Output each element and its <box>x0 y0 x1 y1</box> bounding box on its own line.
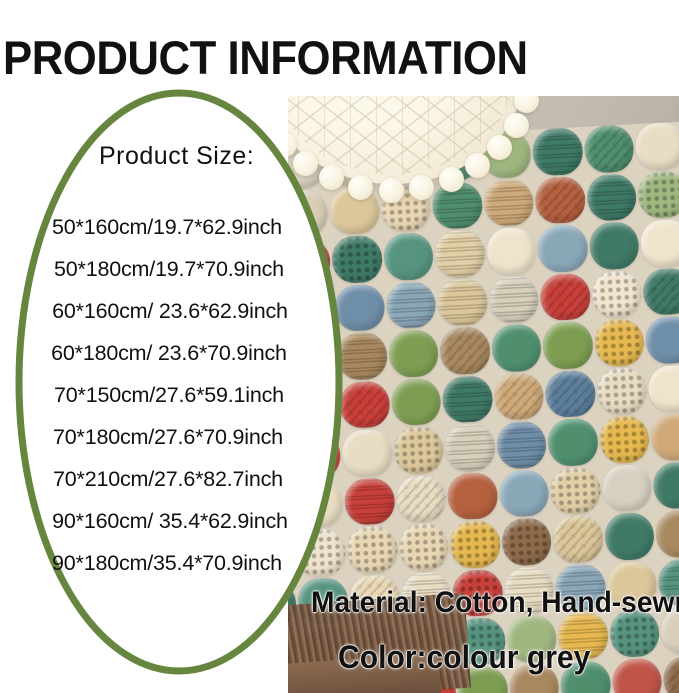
size-option: 60*160cm/ 23.6*62.9inch <box>0 290 340 332</box>
quilt-puff <box>485 227 537 276</box>
quilt-puff <box>663 654 679 693</box>
quilt-puff <box>339 380 391 429</box>
quilt-puff <box>591 270 643 319</box>
page-title: PRODUCT INFORMATION <box>3 30 528 85</box>
quilt-puff <box>542 321 594 370</box>
pompom <box>439 167 464 192</box>
quilt-puff <box>42 638 94 687</box>
quilt-puff <box>0 689 45 693</box>
quilt-puff <box>611 657 663 693</box>
quilt-puff <box>385 280 437 329</box>
quilt-puff <box>583 124 635 173</box>
quilt-puff <box>490 323 542 372</box>
pompom <box>278 0 303 11</box>
quilt-puff <box>96 684 148 693</box>
quilt-puff <box>382 232 434 281</box>
pompom <box>493 0 518 20</box>
quilt-puff <box>498 469 550 518</box>
quilt-puff <box>341 428 393 477</box>
quilt-puff <box>496 420 548 469</box>
quilt-puff <box>532 127 584 176</box>
quilt-puff <box>439 326 491 375</box>
quilt-puff <box>635 122 679 171</box>
quilt-puff <box>593 318 645 367</box>
pompom <box>293 151 318 176</box>
quilt-puff <box>387 329 439 378</box>
quilt-puff <box>642 267 679 316</box>
quilt-puff <box>393 426 445 475</box>
quilt-puff <box>442 375 494 424</box>
quilt-puff <box>586 173 638 222</box>
quilt-puff <box>449 520 501 569</box>
quilt-puff <box>40 590 92 639</box>
quilt-puff <box>493 372 545 421</box>
quilt-puff <box>545 369 597 418</box>
material-text: Material: Cotton, Hand-sewn <box>311 586 679 620</box>
quilt-puff <box>194 582 246 631</box>
quilt-puff <box>346 525 398 574</box>
quilt-puff <box>650 412 679 461</box>
size-option: 90*160cm/ 35.4*62.9inch <box>0 500 340 542</box>
quilt-puff <box>547 418 599 467</box>
quilt-puff <box>552 514 604 563</box>
pompom <box>487 135 512 160</box>
size-option: 50*180cm/19.7*70.9inch <box>0 248 340 290</box>
size-option: 50*160cm/19.7*62.9inch <box>0 206 340 248</box>
quilt-puff <box>333 283 385 332</box>
size-option: 60*180cm/ 23.6*70.9inch <box>0 332 340 374</box>
pompom <box>504 113 529 138</box>
quilt-puff <box>604 512 656 561</box>
quilt-puff <box>648 364 679 413</box>
quilt-puff <box>599 415 651 464</box>
quilt-puff <box>148 681 200 693</box>
quilt-puff <box>488 275 540 324</box>
quilt-puff <box>588 221 640 270</box>
quilt-puff <box>17 154 69 203</box>
quilt-puff <box>653 461 679 510</box>
quilt-puff <box>395 474 447 523</box>
quilt-puff <box>336 331 388 380</box>
quilt-puff <box>447 471 499 520</box>
quilt-puff <box>0 641 43 690</box>
quilt-puff <box>645 315 679 364</box>
product-size-list: 50*160cm/19.7*62.9inch50*180cm/19.7*70.9… <box>0 206 340 584</box>
pompom <box>348 175 373 200</box>
quilt-puff <box>596 366 648 415</box>
quilt-puff <box>0 157 17 206</box>
quilt-puff <box>534 175 586 224</box>
quilt-puff <box>640 218 679 267</box>
quilt-puff <box>45 687 97 693</box>
quilt-puff <box>91 587 143 636</box>
size-option: 70*150cm/27.6*59.1inch <box>0 374 340 416</box>
pillow-pompom-trim <box>256 0 530 192</box>
quilt-puff <box>637 170 679 219</box>
pompom <box>247 84 272 109</box>
pompom <box>465 153 490 178</box>
quilt-puff <box>501 517 553 566</box>
quilt-puff <box>434 229 486 278</box>
quilt-puff <box>444 423 496 472</box>
quilt-puff <box>601 463 653 512</box>
quilt-puff <box>537 224 589 273</box>
size-option: 70*180cm/27.6*70.9inch <box>0 416 340 458</box>
quilt-puff <box>0 593 40 642</box>
quilt-puff <box>436 278 488 327</box>
pompom <box>260 8 285 33</box>
quilt-puff <box>398 523 450 572</box>
quilt-puff <box>145 633 197 682</box>
quilt-puff <box>344 477 396 526</box>
pompom <box>272 132 297 157</box>
pompom <box>319 165 344 190</box>
size-option: 90*180cm/35.4*70.9inch <box>0 542 340 584</box>
quilt-puff <box>94 636 146 685</box>
quilt-puff <box>539 272 591 321</box>
product-size-heading: Product Size: <box>99 142 254 171</box>
pompom <box>256 109 281 134</box>
quilt-puff <box>550 466 602 515</box>
product-information-image: PRODUCT INFORMATION Product Size: 50*160… <box>0 0 679 693</box>
pompom <box>379 178 404 203</box>
size-option: 70*210cm/27.6*82.7inch <box>0 458 340 500</box>
color-text: Color:colour grey <box>338 639 590 676</box>
quilt-puff <box>655 509 679 558</box>
quilt-puff <box>390 377 442 426</box>
quilt-puff <box>143 584 195 633</box>
